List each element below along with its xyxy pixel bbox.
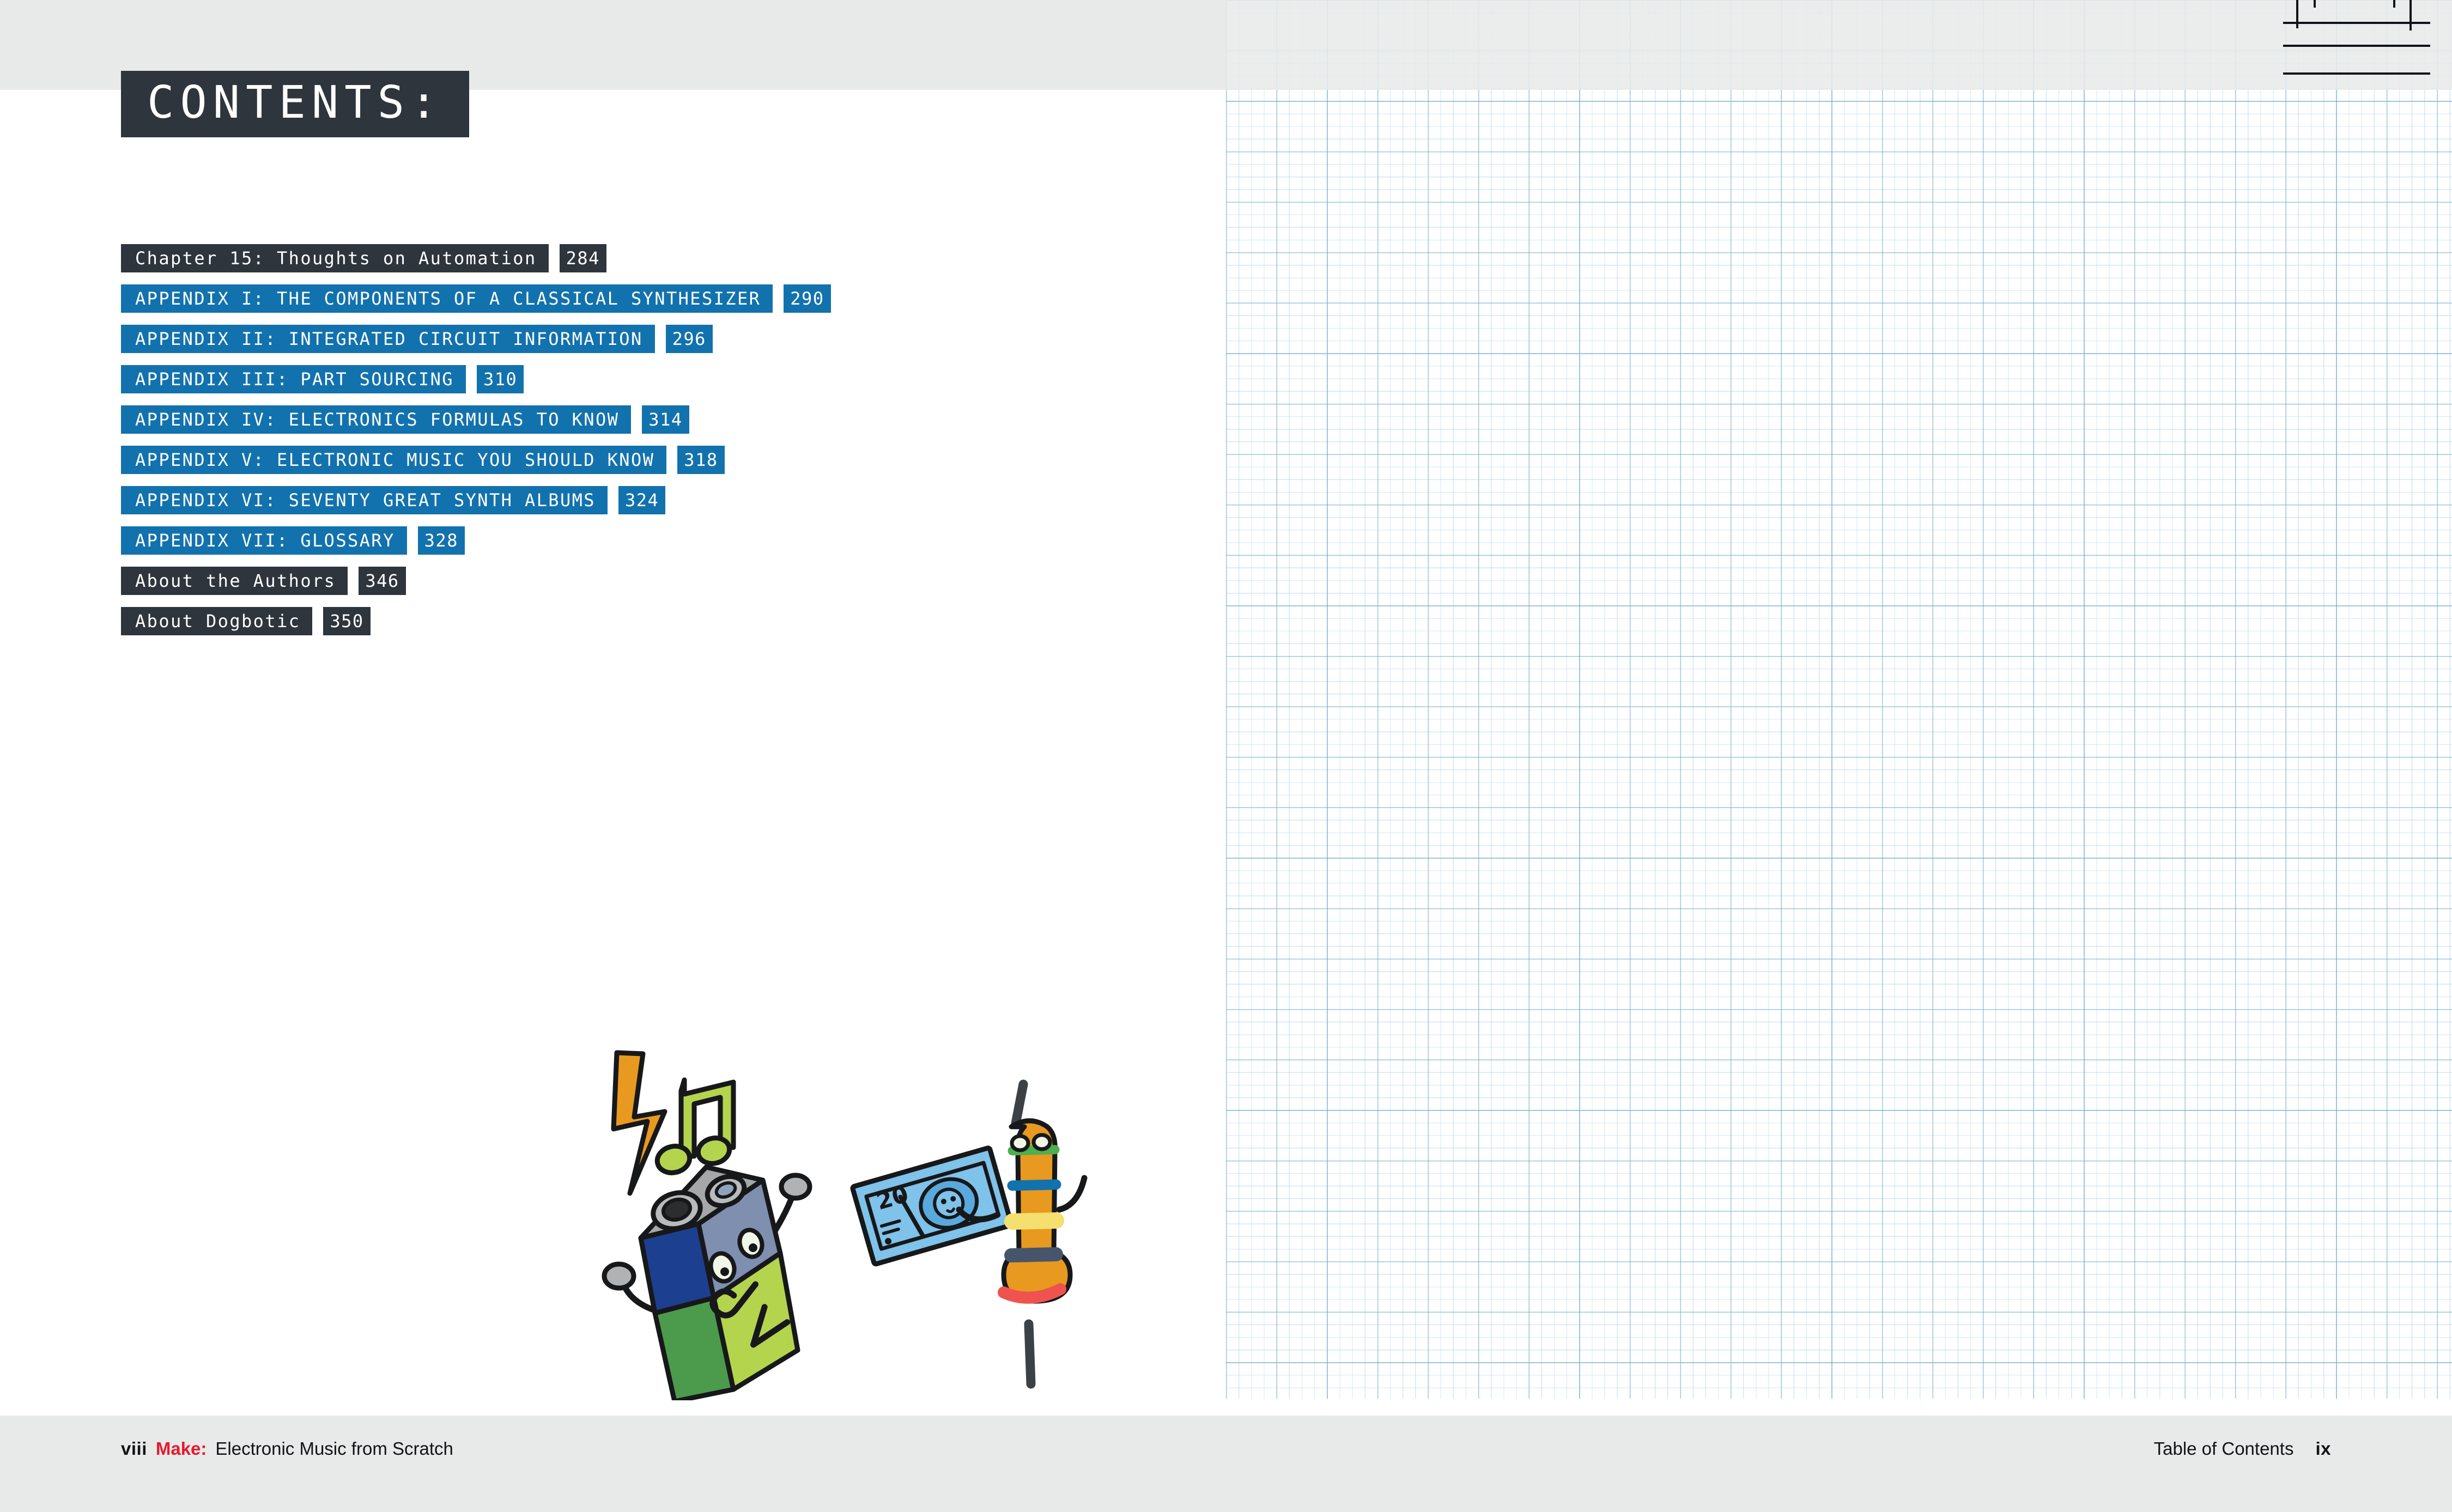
folio-right: ix <box>2315 1438 2331 1459</box>
battery-pupil-right <box>749 1243 757 1252</box>
illustration-battery-and-resistor: 20 <box>578 1030 1122 1400</box>
book-title: Electronic Music from Scratch <box>215 1438 453 1459</box>
form-tick <box>2393 0 2395 8</box>
section-name: Table of Contents <box>2154 1438 2294 1459</box>
music-note-head <box>654 1143 693 1176</box>
toc-entry-label[interactable]: APPENDIX IV: ELECTRONICS FORMULAS TO KNO… <box>121 405 631 434</box>
toc-row[interactable]: APPENDIX V: ELECTRONIC MUSIC YOU SHOULD … <box>121 446 1156 474</box>
toc-row[interactable]: Chapter 15: Thoughts on Automation284 <box>121 244 1156 272</box>
book-spread: CONTENTS: Chapter 15: Thoughts on Automa… <box>0 0 2452 1512</box>
resistor-eye-right <box>1034 1135 1050 1149</box>
toc-entry-page-number[interactable]: 324 <box>618 486 665 514</box>
page-footer: viii Make: Electronic Music from Scratch… <box>0 1416 2452 1512</box>
toc-entry-label[interactable]: About Dogbotic <box>121 607 312 635</box>
toc-entry-page-number[interactable]: 346 <box>359 567 405 595</box>
toc-entry-label[interactable]: APPENDIX II: INTEGRATED CIRCUIT INFORMAT… <box>121 325 655 353</box>
toc-entry-label[interactable]: APPENDIX III: PART SOURCING <box>121 365 466 393</box>
resistor-lead-top <box>1016 1084 1023 1124</box>
music-note-head <box>695 1135 732 1167</box>
graph-paper-page <box>1226 0 2452 1399</box>
battery-right-hand <box>781 1175 810 1198</box>
toc-entry-page-number[interactable]: 290 <box>784 284 830 313</box>
resistor-band-blue <box>1012 1185 1056 1186</box>
toc-entry-label[interactable]: APPENDIX VI: SEVENTY GREAT SYNTH ALBUMS <box>121 486 608 514</box>
page-title-block: CONTENTS: <box>121 71 469 137</box>
footer-right-group: Table of Contents ix <box>2154 1438 2331 1459</box>
form-rule <box>2283 22 2430 24</box>
cropped-ruled-form-artifact <box>2267 0 2452 74</box>
page-title: CONTENTS: <box>147 81 443 125</box>
form-rule <box>2283 72 2430 75</box>
resistor-eye-left <box>1012 1136 1028 1150</box>
toc-row[interactable]: APPENDIX IV: ELECTRONICS FORMULAS TO KNO… <box>121 405 1156 434</box>
resistor-right-arm <box>1059 1178 1084 1210</box>
resistor-lead-bottom <box>1029 1324 1031 1384</box>
toc-entry-page-number[interactable]: 314 <box>642 405 689 434</box>
toc-entry-label[interactable]: APPENDIX V: ELECTRONIC MUSIC YOU SHOULD … <box>121 446 666 474</box>
toc-entry-page-number[interactable]: 296 <box>666 325 713 353</box>
twenty-dollar-bill: 20 <box>852 1147 1012 1264</box>
toc-entry-label[interactable]: About the Authors <box>121 567 348 595</box>
table-of-contents-list: Chapter 15: Thoughts on Automation284APP… <box>121 244 1156 647</box>
toc-row[interactable]: APPENDIX VII: GLOSSARY328 <box>121 526 1156 555</box>
toc-entry-label[interactable]: APPENDIX VII: GLOSSARY <box>121 526 407 555</box>
toc-row[interactable]: About the Authors346 <box>121 567 1156 595</box>
form-tick <box>2409 0 2412 31</box>
resistor-band-yellow <box>1012 1220 1056 1222</box>
form-tick <box>2296 0 2298 28</box>
battery-pupil-left <box>720 1267 729 1276</box>
toc-entry-label[interactable]: Chapter 15: Thoughts on Automation <box>121 244 549 272</box>
toc-row[interactable]: APPENDIX III: PART SOURCING310 <box>121 365 1156 393</box>
footer-left-group: viii Make: Electronic Music from Scratch <box>121 1438 453 1459</box>
toc-row[interactable]: APPENDIX VI: SEVENTY GREAT SYNTH ALBUMS3… <box>121 486 1156 514</box>
toc-entry-page-number[interactable]: 328 <box>418 526 465 555</box>
resistor-band-slate <box>1011 1254 1056 1255</box>
battery-left-hand <box>604 1264 634 1288</box>
lightning-bolt-icon <box>614 1053 665 1193</box>
toc-entry-page-number[interactable]: 310 <box>477 365 524 393</box>
form-rule <box>2283 45 2430 47</box>
folio-left: viii <box>121 1438 147 1459</box>
form-tick <box>2314 0 2316 8</box>
toc-entry-label[interactable]: APPENDIX I: THE COMPONENTS OF A CLASSICA… <box>121 284 773 313</box>
toc-entry-page-number[interactable]: 318 <box>677 446 724 474</box>
contents-page: CONTENTS: Chapter 15: Thoughts on Automa… <box>0 0 1226 1416</box>
toc-row[interactable]: APPENDIX I: THE COMPONENTS OF A CLASSICA… <box>121 284 1156 313</box>
toc-entry-page-number[interactable]: 284 <box>560 244 606 272</box>
toc-row[interactable]: APPENDIX II: INTEGRATED CIRCUIT INFORMAT… <box>121 325 1156 353</box>
toc-row[interactable]: About Dogbotic350 <box>121 607 1156 635</box>
toc-entry-page-number[interactable]: 350 <box>323 607 370 635</box>
make-logotype: Make: <box>156 1438 207 1459</box>
